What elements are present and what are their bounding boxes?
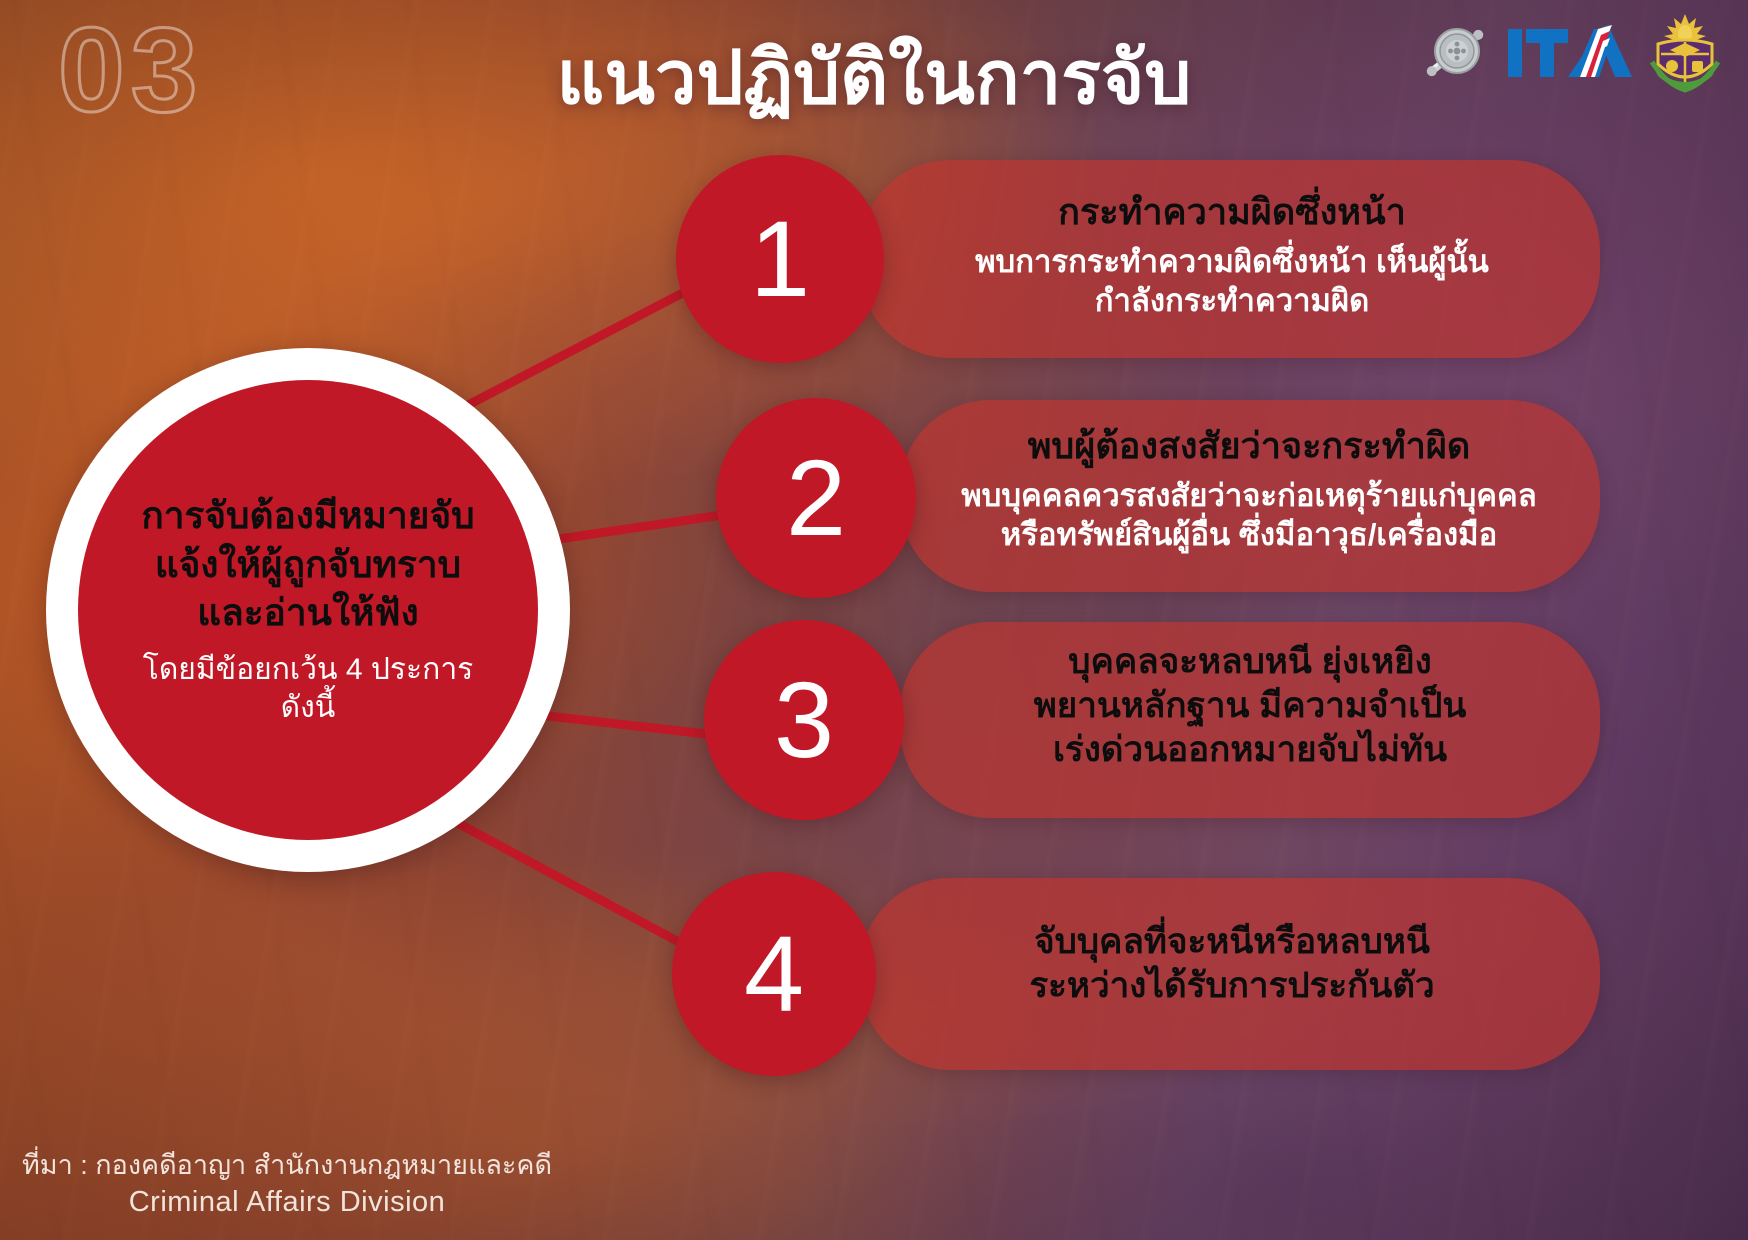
item-number-2: 2 — [786, 444, 846, 552]
hub-subtitle: โดยมีข้อยกเว้น 4 ประการ ดังนี้ — [143, 651, 474, 728]
item-badge-2[interactable]: 2 — [716, 398, 916, 598]
item-body-line-3-1: บุคคลจะหลบหนี ยุ่งเหยิง — [930, 640, 1570, 684]
hub-title-line-1: การจับต้องมีหมายจับ — [141, 492, 474, 540]
connector-line-2 — [552, 512, 742, 540]
footer-source-en: Criminal Affairs Division — [22, 1183, 552, 1222]
infographic-slide: 03 แนวปฏิบัติในการจับ — [0, 0, 1748, 1240]
footer-source: ที่มา : กองคดีอาญา สำนักงานกฎหมายและคดี … — [22, 1147, 552, 1222]
item-body-line-4-1: จับบุคลที่จะหนีหรือหลบหนี — [896, 920, 1568, 964]
item-body-line-2-2: หรือทรัพย์สินผู้อื่น ซึ่งมีอาวุธ/เครื่อง… — [926, 515, 1572, 554]
item-number-3: 3 — [774, 666, 834, 774]
item-body-line-1-1: พบการกระทำความผิดซึ่งหน้า เห็นผู้นั้น — [896, 242, 1568, 281]
item-text-3: บุคคลจะหลบหนี ยุ่งเหยิง พยานหลักฐาน มีคว… — [930, 640, 1570, 772]
item-number-4: 4 — [744, 920, 804, 1028]
item-badge-3[interactable]: 3 — [704, 620, 904, 820]
item-heading-1: กระทำความผิดซึ่งหน้า — [896, 190, 1568, 235]
item-body-line-1-2: กำลังกระทำความผิด — [896, 281, 1568, 320]
item-text-1: กระทำความผิดซึ่งหน้า พบการกระทำความผิดซึ… — [896, 190, 1568, 320]
item-body-line-3-3: เร่งด่วนออกหมายจับไม่ทัน — [930, 728, 1570, 772]
item-badge-1[interactable]: 1 — [676, 155, 884, 363]
hub-title: การจับต้องมีหมายจับ แจ้งให้ผู้ถูกจับทราบ… — [141, 492, 474, 636]
hub-subtitle-line-2: ดังนี้ — [143, 689, 474, 727]
hub-subtitle-line-1: โดยมีข้อยกเว้น 4 ประการ — [143, 651, 474, 689]
item-body-line-4-2: ระหว่างได้รับการประกันตัว — [896, 964, 1568, 1008]
hub-title-line-3: และอ่านให้ฟัง — [141, 589, 474, 637]
item-text-2: พบผู้ต้องสงสัยว่าจะกระทำผิด พบบุคคลควรสง… — [926, 424, 1572, 554]
item-body-line-2-1: พบบุคคลควรสงสัยว่าจะก่อเหตุร้ายแก่บุคคล — [926, 476, 1572, 515]
item-number-1: 1 — [750, 205, 810, 313]
item-body-line-3-2: พยานหลักฐาน มีความจำเป็น — [930, 684, 1570, 728]
item-badge-4[interactable]: 4 — [672, 872, 876, 1076]
hub-title-line-2: แจ้งให้ผู้ถูกจับทราบ — [141, 541, 474, 589]
item-heading-2: พบผู้ต้องสงสัยว่าจะกระทำผิด — [926, 424, 1572, 469]
footer-source-th: ที่มา : กองคดีอาญา สำนักงานกฎหมายและคดี — [22, 1147, 552, 1183]
item-text-4: จับบุคลที่จะหนีหรือหลบหนี ระหว่างได้รับก… — [896, 920, 1568, 1008]
hub-circle: การจับต้องมีหมายจับ แจ้งให้ผู้ถูกจับทราบ… — [78, 380, 538, 840]
